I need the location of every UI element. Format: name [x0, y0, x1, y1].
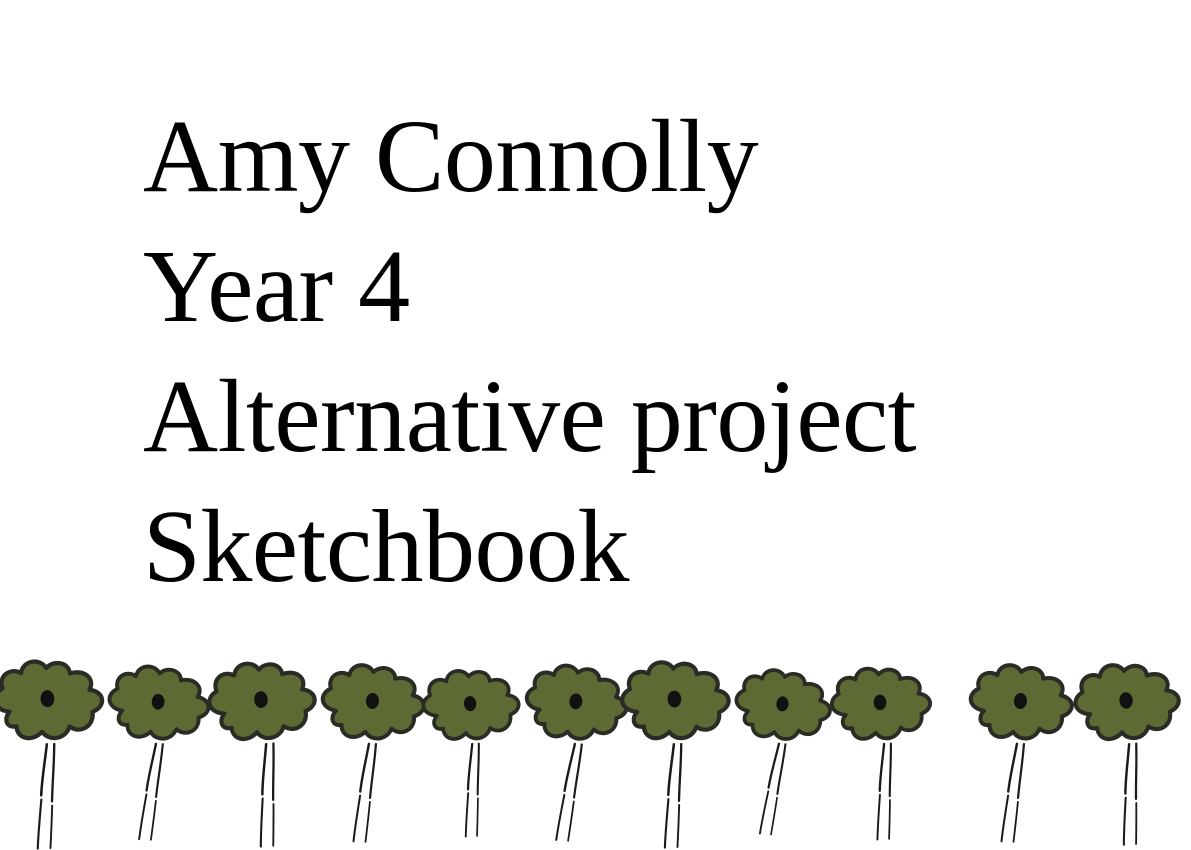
flower-stem — [556, 743, 582, 841]
flower-stem — [461, 744, 484, 837]
title-line-2: Year 4 — [143, 222, 1163, 352]
flower-stem — [872, 744, 895, 840]
flower — [1064, 654, 1191, 848]
flower-stem — [139, 743, 163, 840]
flower-stem — [253, 744, 280, 847]
flower-stem — [35, 744, 59, 849]
title-line-4: Sketchbook — [143, 482, 1163, 612]
flower-stem — [760, 743, 786, 835]
slide-canvas: Amy Connolly Year 4 Alternative project … — [0, 0, 1191, 842]
flower-row — [0, 660, 1191, 842]
title-line-3: Alternative project — [143, 352, 1163, 482]
flower-stem — [1002, 743, 1024, 842]
flower-stem — [354, 743, 376, 842]
title-line-1: Amy Connolly — [143, 92, 1163, 222]
flower-stem — [1117, 744, 1143, 845]
flower-stem — [661, 744, 685, 848]
flower — [822, 660, 947, 842]
title-block: Amy Connolly Year 4 Alternative project … — [143, 92, 1163, 612]
